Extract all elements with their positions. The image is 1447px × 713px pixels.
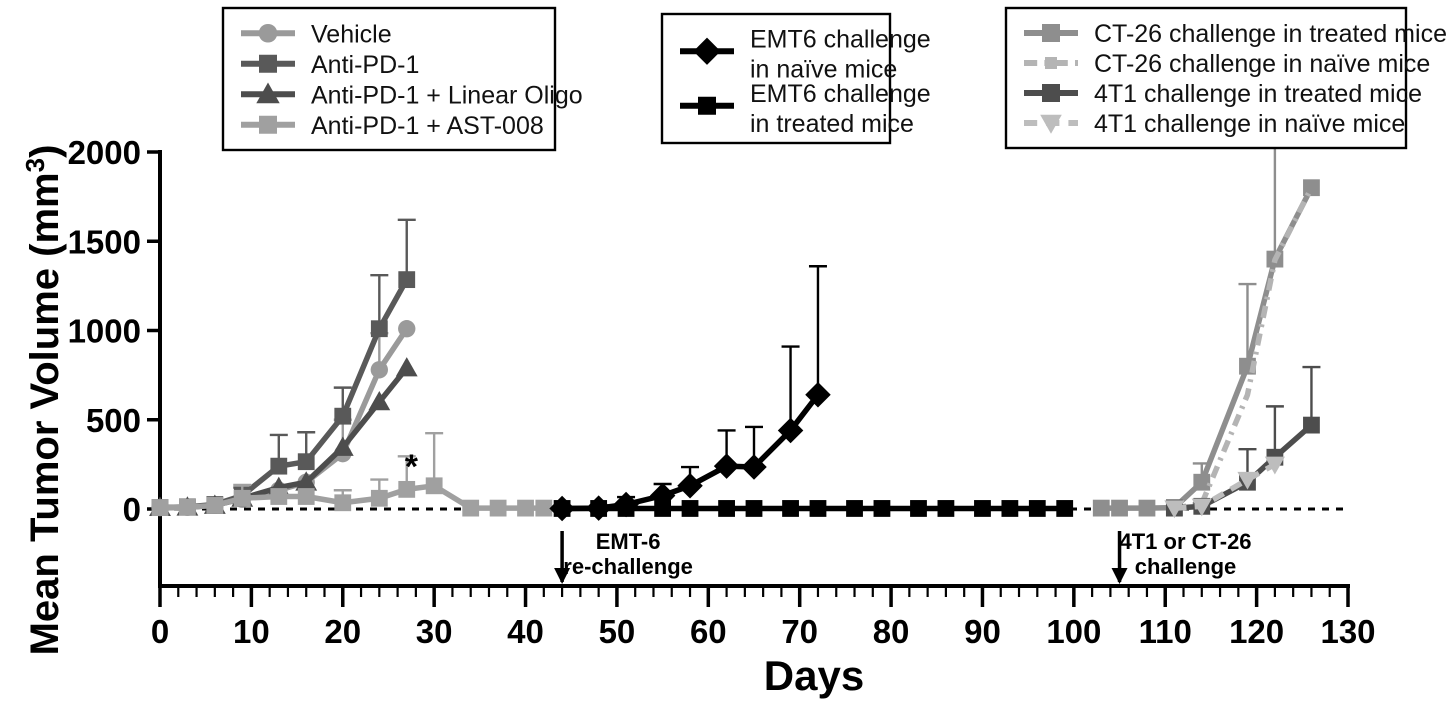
x-tick-label: 110 [1139,613,1192,650]
y-tick-label: 2000 [68,134,141,171]
x-tick-label: 80 [873,613,910,650]
x-tick-label: 90 [964,613,1001,650]
data-point-marker [1045,57,1057,69]
data-point-marker [874,500,891,517]
data-point-marker [590,500,607,517]
legend-item-label: Vehicle [311,20,392,48]
data-point-marker [152,499,169,516]
data-point-marker [398,271,415,288]
data-point-marker [1001,500,1018,517]
x-axis-title: Days [764,652,864,699]
series-emt6_naive [549,266,830,521]
data-point-marker [1111,500,1128,517]
x-tick-label: 100 [1046,613,1101,650]
treatment-legend: VehicleAnti-PD-1Anti-PD-1 + Linear Oligo… [223,8,583,150]
tumor-volume-chart: 0500100015002000010203040506070809010011… [0,0,1447,713]
x-tick-label: 60 [690,613,727,650]
data-point-marker [718,500,735,517]
legend-item-label: Anti-PD-1 + AST-008 [311,112,544,140]
data-point-marker [259,116,277,134]
x-tick-label: 40 [507,613,544,650]
annotation-label: 4T1 or CT-26 [1120,529,1252,554]
data-point-marker [270,488,287,505]
data-point-marker [974,500,991,517]
annotation-label: EMT-6 [596,529,661,554]
data-point-marker [1056,500,1073,517]
data-point-marker [1139,500,1156,517]
data-point-marker [938,500,955,517]
series-line-4t1_treated [1174,425,1311,508]
annotation-4t1-ct26-challenge: 4T1 or CT-26challenge [1112,529,1252,584]
data-point-marker [682,500,699,517]
data-point-marker [1029,500,1046,517]
legend-item-label: 4T1 challenge in treated mice [1094,80,1422,108]
data-point-marker [334,408,351,425]
data-point-marker [1042,24,1060,42]
annotation-label: challenge [1135,554,1236,579]
chart-canvas: 0500100015002000010203040506070809010011… [0,0,1447,713]
series-emt6_treated [554,500,1073,517]
series-line-ct26_naive [1174,188,1311,508]
x-tick-label: 50 [599,613,636,650]
data-point-marker [234,490,251,507]
data-point-marker [654,500,671,517]
x-tick-label: 10 [233,613,270,650]
data-point-marker [782,500,799,517]
emt6-legend: EMT6 challengein naïve miceEMT6 challeng… [662,14,931,143]
data-point-marker [910,500,927,517]
data-point-marker [1193,474,1210,491]
error-bars-ct26_treated [1193,131,1284,483]
legends-layer: VehicleAnti-PD-1Anti-PD-1 + Linear Oligo… [223,8,1447,150]
data-point-marker [535,500,552,517]
data-point-marker [179,499,196,516]
data-point-marker [298,488,315,505]
data-point-marker [746,500,763,517]
data-point-marker [698,97,716,115]
legend-item-label: CT-26 challenge in naïve mice [1094,50,1430,78]
series-ct26_naive [1174,188,1311,508]
x-tick-label: 0 [151,613,169,650]
data-point-marker [618,500,635,517]
data-point-marker [462,500,479,517]
data-point-marker [396,357,418,376]
data-point-marker [371,490,388,507]
significance-asterisk: * [405,448,419,486]
y-axis-title-text: Mean Tumor Volume (mm3) [20,145,67,656]
data-point-marker [677,473,703,499]
y-axis-title: Mean Tumor Volume (mm3) [20,145,67,656]
legend-item-label: 4T1 challenge in naïve mice [1094,110,1405,138]
data-point-marker [1093,500,1110,517]
legend-item-label: Anti-PD-1 + Linear Oligo [311,81,583,109]
data-point-marker [371,320,388,337]
data-point-marker [259,55,277,73]
data-point-marker [259,24,278,43]
legend-item-label: Anti-PD-1 [311,51,419,79]
data-point-marker [371,361,388,378]
data-point-marker [517,500,534,517]
data-point-marker [1042,84,1060,102]
data-point-marker [398,320,415,337]
legend-item-label: CT-26 challenge in treated mice [1094,20,1447,48]
y-tick-label: 500 [86,402,141,439]
y-tick-label: 1500 [68,223,141,260]
x-tick-label: 30 [416,613,453,650]
data-point-marker [846,500,863,517]
data-point-marker [334,494,351,511]
data-point-marker [270,458,287,475]
data-point-marker [810,500,827,517]
annotation-label: re-challenge [563,554,693,579]
data-point-marker [298,453,315,470]
annotation-arrow-head [1112,568,1128,584]
data-point-marker [426,477,443,494]
series-anti_pd1_ast008 [152,433,553,516]
x-tick-label: 70 [781,613,818,650]
data-point-marker [490,500,507,517]
data-point-marker [206,497,223,514]
x-tick-label: 120 [1229,613,1284,650]
data-point-marker [554,500,571,517]
x-tick-label: 130 [1320,613,1375,650]
data-point-marker [1303,417,1320,434]
x-tick-label: 20 [324,613,361,650]
series-layer [149,131,1320,522]
challenge-legend: CT-26 challenge in treated miceCT-26 cha… [1006,8,1447,148]
y-tick-label: 0 [123,491,141,528]
series-ct26_treated [1093,131,1320,517]
y-tick-label: 1000 [68,313,141,350]
data-point-marker [714,453,740,479]
annotation-emt6-rechallenge: EMT-6re-challenge [554,529,693,584]
